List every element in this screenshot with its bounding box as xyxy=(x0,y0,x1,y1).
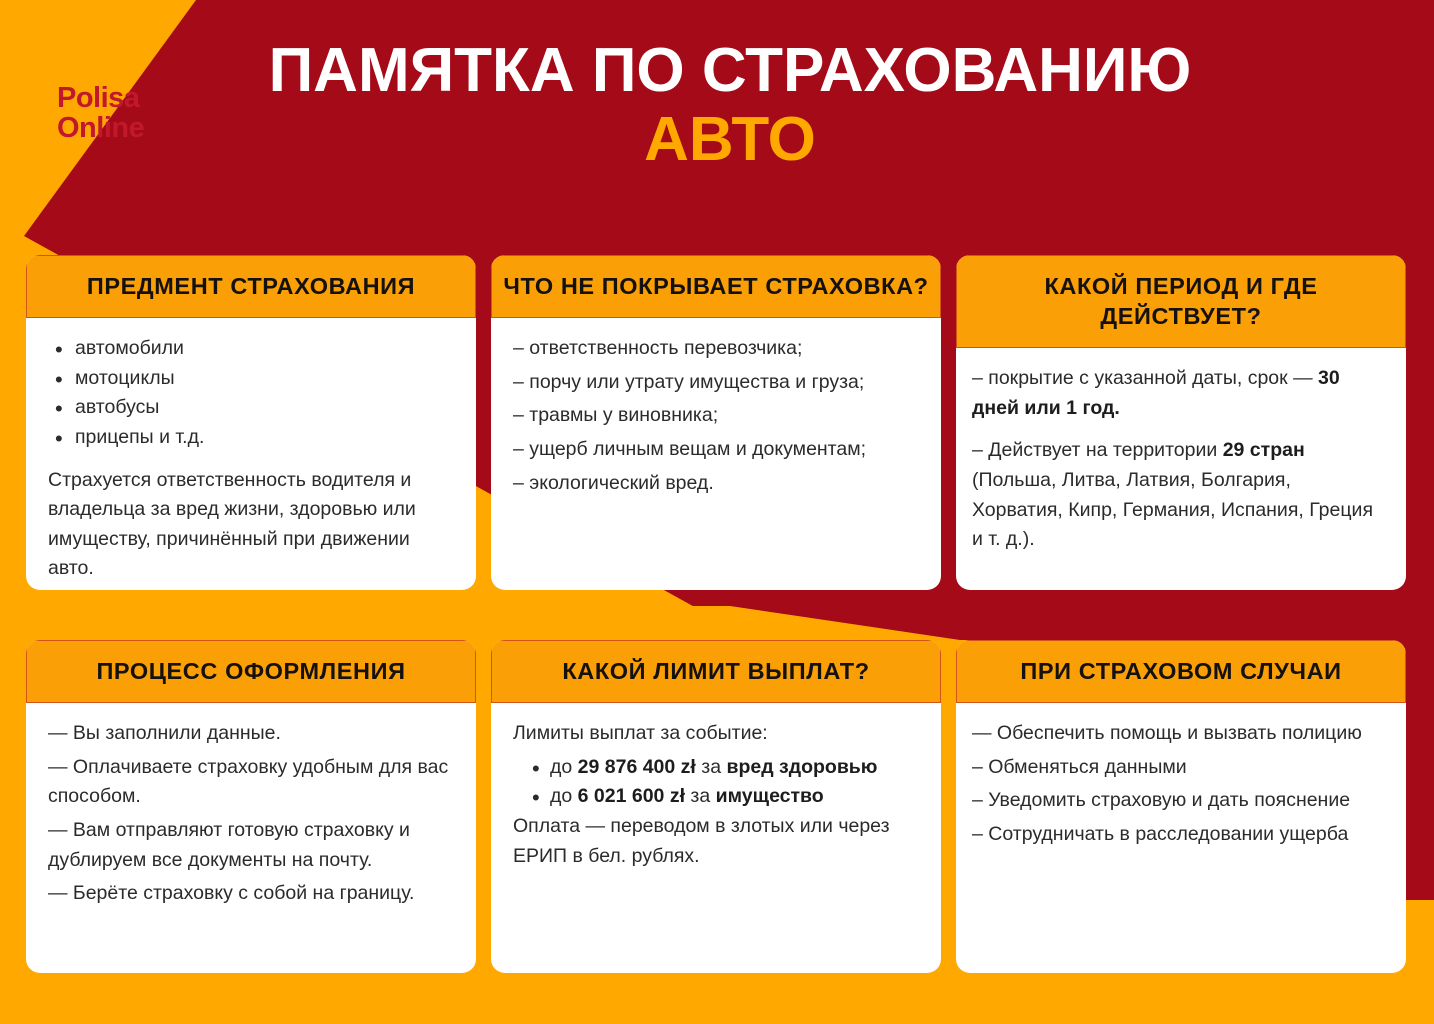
card-insurance-subject: ПРЕДМЕНТ СТРАХОВАНИЯ автомобили мотоцикл… xyxy=(26,255,476,590)
limit-joiner: за xyxy=(696,756,727,778)
limit-prefix: до xyxy=(550,785,578,807)
list-item: — Вам отправляют готовую страховку и дуб… xyxy=(48,816,454,875)
list-item: прицепы и т.д. xyxy=(48,423,454,453)
card-title: КАКОЙ ПЕРИОД И ГДЕ ДЕЙСТВУЕТ? xyxy=(956,255,1406,348)
payment-method-note: Оплата — переводом в злотых или через ЕР… xyxy=(513,812,919,871)
brand-logo-line-1: Polisa xyxy=(57,84,144,114)
brand-logo[interactable]: Polisa Online xyxy=(57,84,144,143)
card-title: ПРЕДМЕНТ СТРАХОВАНИЯ xyxy=(26,255,476,318)
territory-text-lead: – Действует на территории xyxy=(972,439,1223,461)
list-item: – травмы у виновника; xyxy=(513,401,919,431)
territory-country-count: 29 стран xyxy=(1223,439,1305,461)
subject-list: автомобили мотоциклы автобусы прицепы и … xyxy=(48,334,454,453)
card-title: КАКОЙ ЛИМИТ ВЫПЛАТ? xyxy=(491,640,941,703)
list-item: – ответственность перевозчика; xyxy=(513,334,919,364)
card-process: ПРОЦЕСС ОФОРМЛЕНИЯ — Вы заполнили данные… xyxy=(26,640,476,973)
card-title: ПРИ СТРАХОВОМ СЛУЧАИ xyxy=(956,640,1406,703)
page-title-accent: АВТО xyxy=(644,105,816,174)
list-item: — Вы заполнили данные. xyxy=(48,719,454,749)
list-item: – Уведомить страховую и дать пояснение xyxy=(972,786,1384,816)
list-item: – Обменяться данными xyxy=(972,753,1384,783)
list-item: до 29 876 400 zł за вред здоровью xyxy=(513,753,919,783)
list-item: автобусы xyxy=(48,393,454,423)
limit-prefix: до xyxy=(550,756,578,778)
card-payout-limits: КАКОЙ ЛИМИТ ВЫПЛАТ? Лимиты выплат за соб… xyxy=(491,640,941,973)
list-item: – экологический вред. xyxy=(513,469,919,499)
list-item: — Берёте страховку с собой на границу. xyxy=(48,879,454,909)
card-insured-event-steps: ПРИ СТРАХОВОМ СЛУЧАИ — Обеспечить помощь… xyxy=(956,640,1406,973)
list-item: до 6 021 600 zł за имущество xyxy=(513,782,919,812)
territory-paragraph: – Действует на территории 29 стран (Поль… xyxy=(972,436,1384,555)
card-content: — Вы заполнили данные. — Оплачиваете стр… xyxy=(26,703,476,923)
list-item: – Сотрудничать в расследовании ущерба xyxy=(972,820,1384,850)
subject-paragraph: Страхуется ответственность водителя и вл… xyxy=(48,466,454,585)
list-item: – порчу или утрату имущества и груза; xyxy=(513,368,919,398)
limit-category-health: вред здоровью xyxy=(726,756,877,778)
card-content: – ответственность перевозчика; – порчу и… xyxy=(491,318,941,512)
card-period-and-territory: КАКОЙ ПЕРИОД И ГДЕ ДЕЙСТВУЕТ? – покрытие… xyxy=(956,255,1406,590)
card-not-covered: ЧТО НЕ ПОКРЫВАЕТ СТРАХОВКА? – ответствен… xyxy=(491,255,941,590)
card-title: ПРОЦЕСС ОФОРМЛЕНИЯ xyxy=(26,640,476,703)
card-content: – покрытие с указанной даты, срок — 30 д… xyxy=(956,348,1406,569)
list-item: — Обеспечить помощь и вызвать полицию xyxy=(972,719,1384,749)
limits-intro: Лимиты выплат за событие: xyxy=(513,719,919,749)
page-title-main: ПАМЯТКА ПО СТРАХОВАНИЮ xyxy=(269,36,1192,105)
limit-amount-health: 29 876 400 zł xyxy=(578,756,696,778)
territory-country-list: (Польша, Литва, Латвия, Болгария, Хорват… xyxy=(972,469,1373,550)
period-text: – покрытие с указанной даты, срок — xyxy=(972,367,1318,389)
list-item: – ущерб личным вещам и документам; xyxy=(513,435,919,465)
limits-list: до 29 876 400 zł за вред здоровью до 6 0… xyxy=(513,753,919,812)
limit-joiner: за xyxy=(685,785,716,807)
card-content: — Обеспечить помощь и вызвать полицию – … xyxy=(956,703,1406,864)
list-item: — Оплачиваете страховку удобным для вас … xyxy=(48,753,454,812)
limit-amount-property: 6 021 600 zł xyxy=(578,785,685,807)
list-item: мотоциклы xyxy=(48,364,454,394)
list-item: автомобили xyxy=(48,334,454,364)
brand-logo-line-2: Online xyxy=(57,114,144,144)
card-content: Лимиты выплат за событие: до 29 876 400 … xyxy=(491,703,941,885)
card-content: автомобили мотоциклы автобусы прицепы и … xyxy=(26,318,476,590)
period-paragraph: – покрытие с указанной даты, срок — 30 д… xyxy=(972,364,1384,423)
page-header: Polisa Online ПАМЯТКА ПО СТРАХОВАНИЮ АВТ… xyxy=(0,0,1434,250)
page-title: ПАМЯТКА ПО СТРАХОВАНИЮ АВТО xyxy=(230,36,1230,175)
card-title: ЧТО НЕ ПОКРЫВАЕТ СТРАХОВКА? xyxy=(491,255,941,318)
limit-category-property: имущество xyxy=(716,785,824,807)
